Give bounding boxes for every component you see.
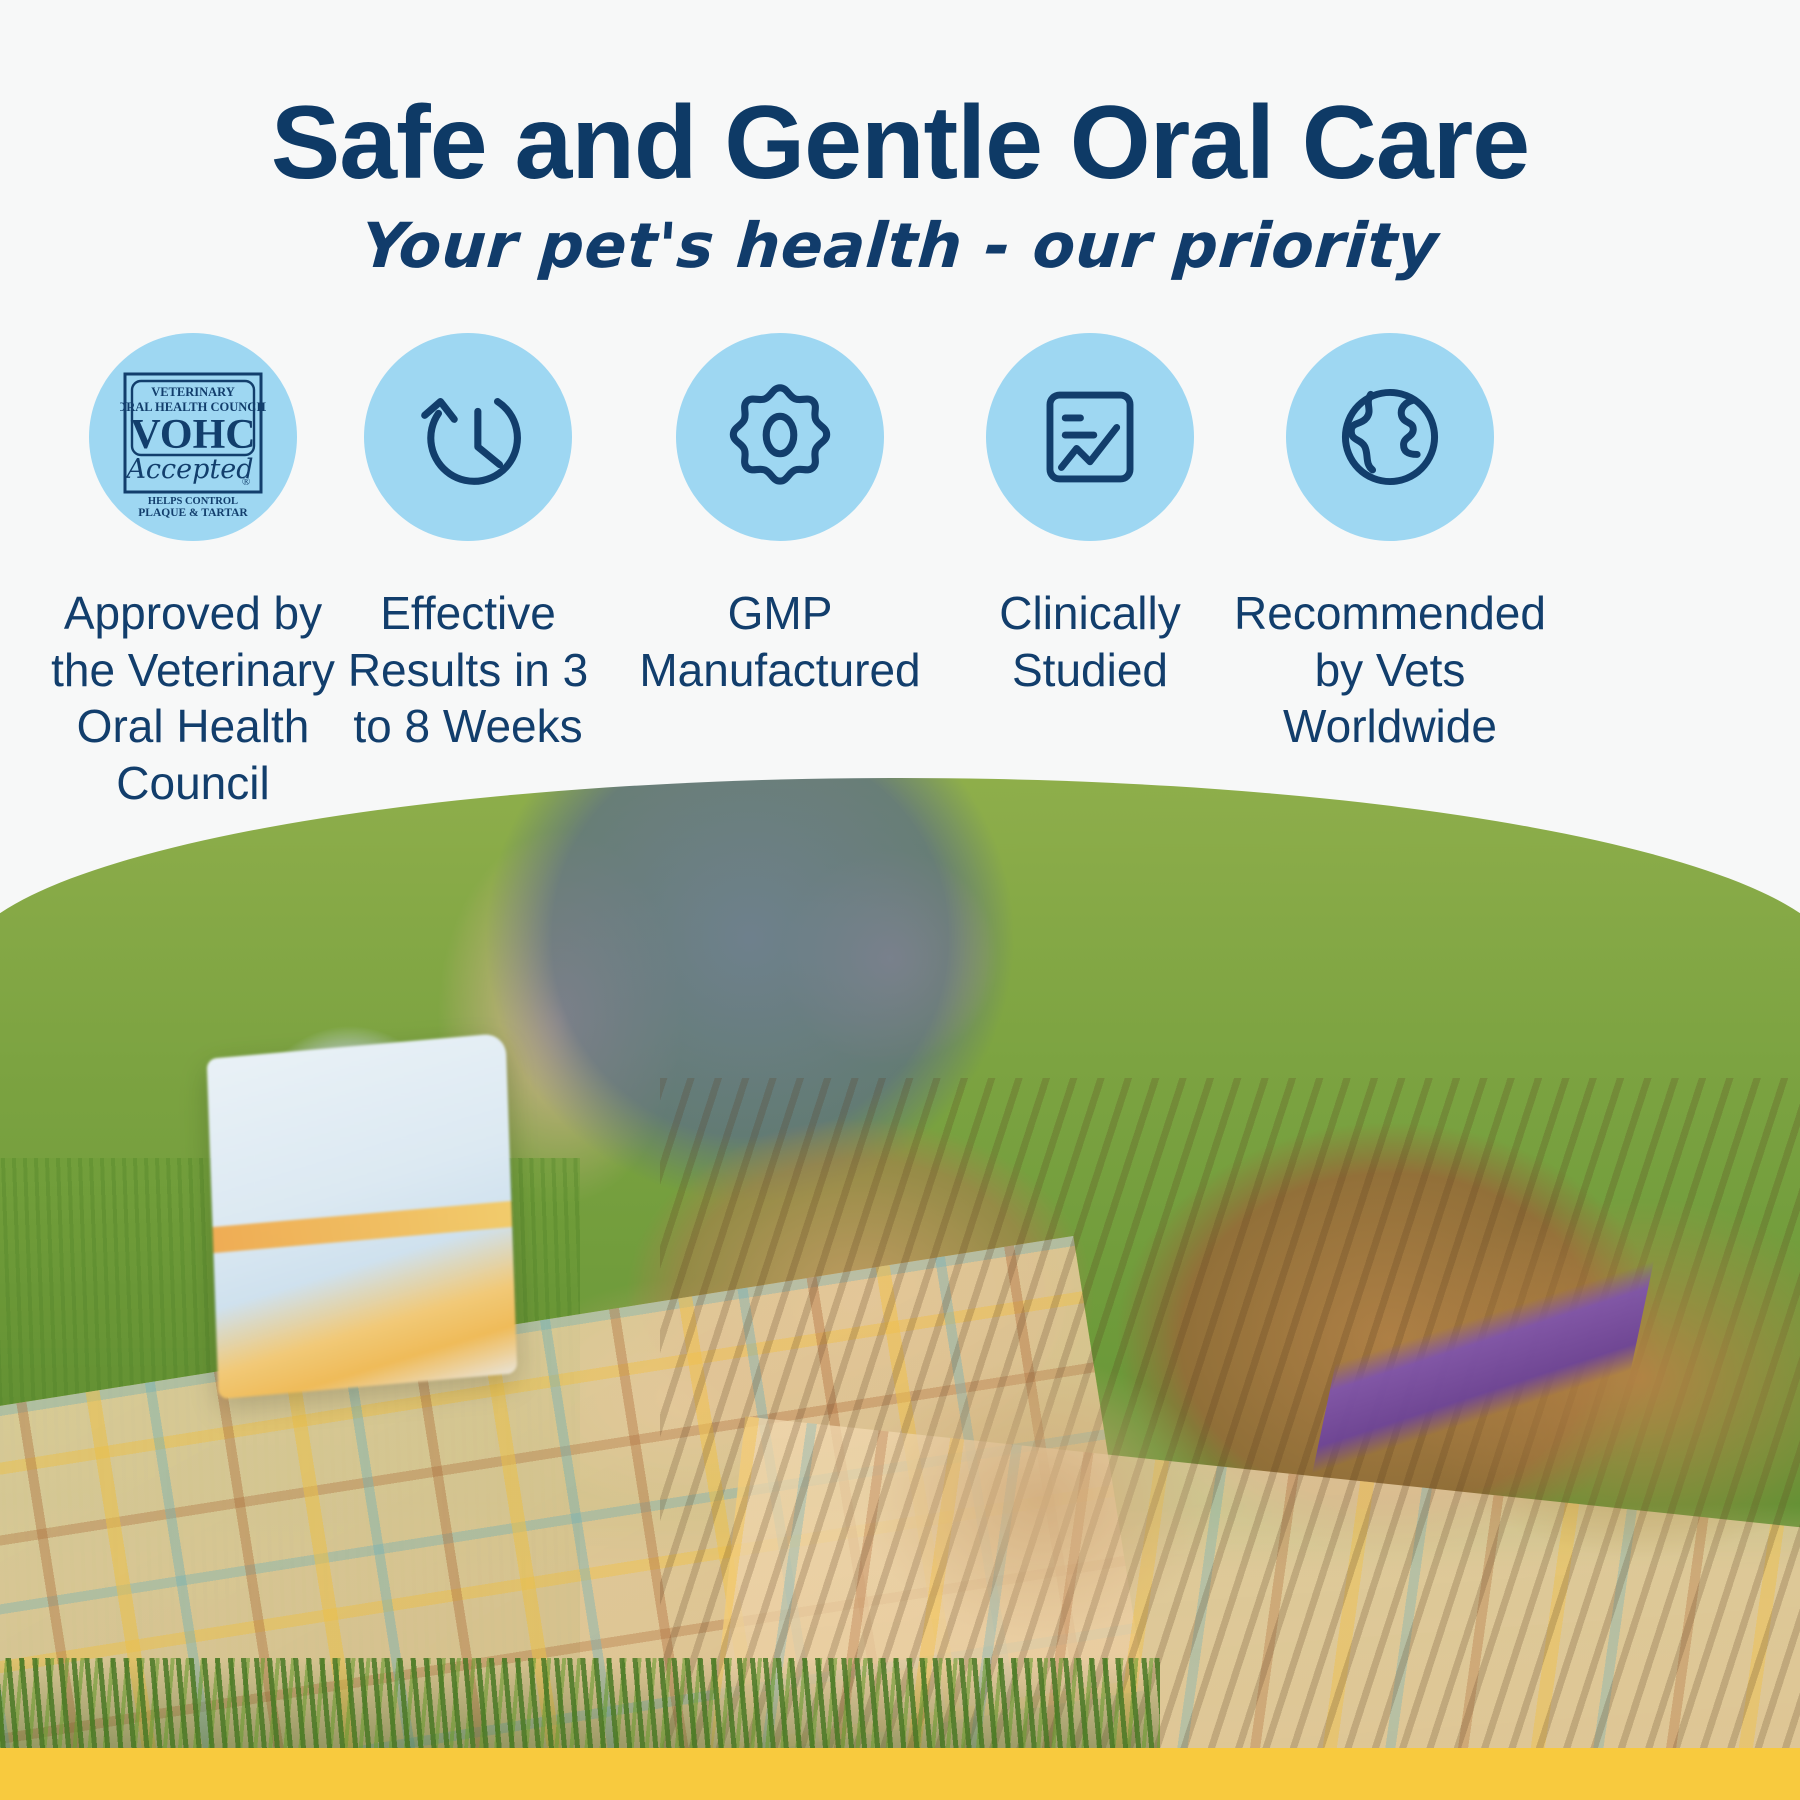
chart-report-icon — [1029, 376, 1151, 498]
feature-item-recommended-by-vets: Recommended by Vets Worldwide — [1225, 333, 1555, 755]
feature-icon-circle — [676, 333, 884, 541]
vohc-registered: ® — [242, 476, 250, 488]
feature-label: Clinically Studied — [960, 585, 1220, 698]
bottom-accent-bar — [0, 1748, 1800, 1800]
feature-label: GMP Manufactured — [620, 585, 940, 698]
hero-photo — [0, 778, 1800, 1750]
feature-list: VETERINARY ORAL HEALTH COUNCIL VOHC Acce… — [0, 333, 1800, 853]
vohc-line4: PLAQUE & TARTAR — [138, 507, 248, 519]
photo-product-package — [207, 1033, 518, 1399]
photo-product-package-band — [213, 1201, 513, 1253]
feature-icon-circle — [986, 333, 1194, 541]
feature-icon-circle: VETERINARY ORAL HEALTH COUNCIL VOHC Acce… — [89, 333, 297, 541]
vohc-line1: VETERINARY — [151, 385, 235, 399]
page-subtitle: Your pet's health - our priority — [0, 212, 1800, 280]
feature-item-gmp: GMP Manufactured — [620, 333, 940, 698]
globe-icon — [1328, 375, 1452, 499]
feature-item-effective-results: Effective Results in 3 to 8 Weeks — [341, 333, 595, 755]
vohc-line3: HELPS CONTROL — [148, 496, 238, 507]
feature-icon-circle — [364, 333, 572, 541]
page-title: Safe and Gentle Oral Care — [0, 88, 1800, 198]
feature-icon-circle — [1286, 333, 1494, 541]
photo-dog-collar — [1312, 1181, 1658, 1535]
feature-item-vohc: VETERINARY ORAL HEALTH COUNCIL VOHC Acce… — [46, 333, 340, 811]
clock-arrow-icon — [405, 374, 531, 500]
photo-grass-foreground — [0, 1658, 1160, 1750]
hero-photo-mask — [0, 778, 1800, 1750]
vohc-seal-icon: VETERINARY ORAL HEALTH COUNCIL VOHC Acce… — [120, 352, 266, 522]
feature-label: Recommended by Vets Worldwide — [1225, 585, 1555, 755]
vohc-mark: VOHC — [130, 412, 255, 458]
feature-item-clinically-studied: Clinically Studied — [960, 333, 1220, 698]
gear-icon — [717, 374, 843, 500]
vohc-accepted: Accepted — [123, 454, 253, 485]
feature-label: Effective Results in 3 to 8 Weeks — [341, 585, 595, 755]
photo-dog — [660, 1078, 1800, 1750]
hero-photo-image — [0, 778, 1800, 1750]
infographic-root: Safe and Gentle Oral Care Your pet's hea… — [0, 0, 1800, 1800]
